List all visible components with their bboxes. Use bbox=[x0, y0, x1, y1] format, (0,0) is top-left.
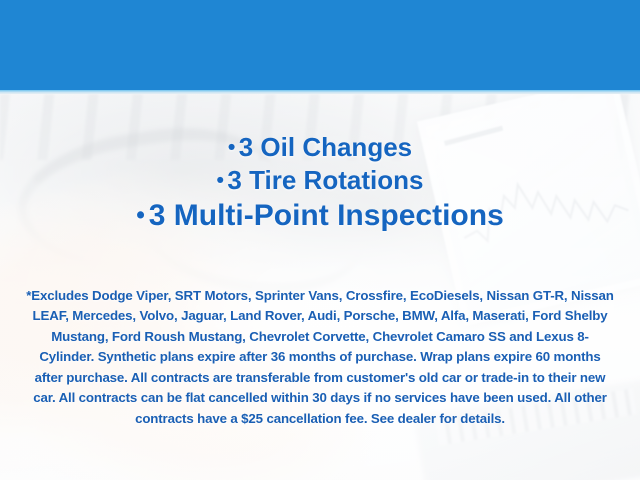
extracare-package-ad: ExtraCare Package* •3 Oil Changes •3 Tir… bbox=[0, 0, 640, 480]
bullet-icon: • bbox=[217, 168, 224, 192]
benefit-item-oil-changes: •3 Oil Changes bbox=[0, 133, 640, 162]
benefit-item-tire-rotations: •3 Tire Rotations bbox=[0, 166, 640, 195]
benefits-list: •3 Oil Changes •3 Tire Rotations •3 Mult… bbox=[0, 133, 640, 233]
disclaimer-text: *Excludes Dodge Viper, SRT Motors, Sprin… bbox=[26, 286, 614, 429]
bullet-icon: • bbox=[228, 135, 235, 159]
benefit-item-multi-point-inspections: •3 Multi-Point Inspections bbox=[0, 199, 640, 233]
benefit-label: 3 Tire Rotations bbox=[227, 165, 423, 195]
benefit-label: 3 Multi-Point Inspections bbox=[149, 199, 504, 232]
bullet-icon: • bbox=[136, 202, 145, 229]
benefit-label: 3 Oil Changes bbox=[239, 132, 412, 162]
header-banner bbox=[0, 0, 640, 90]
header-banner-underline bbox=[0, 90, 640, 94]
